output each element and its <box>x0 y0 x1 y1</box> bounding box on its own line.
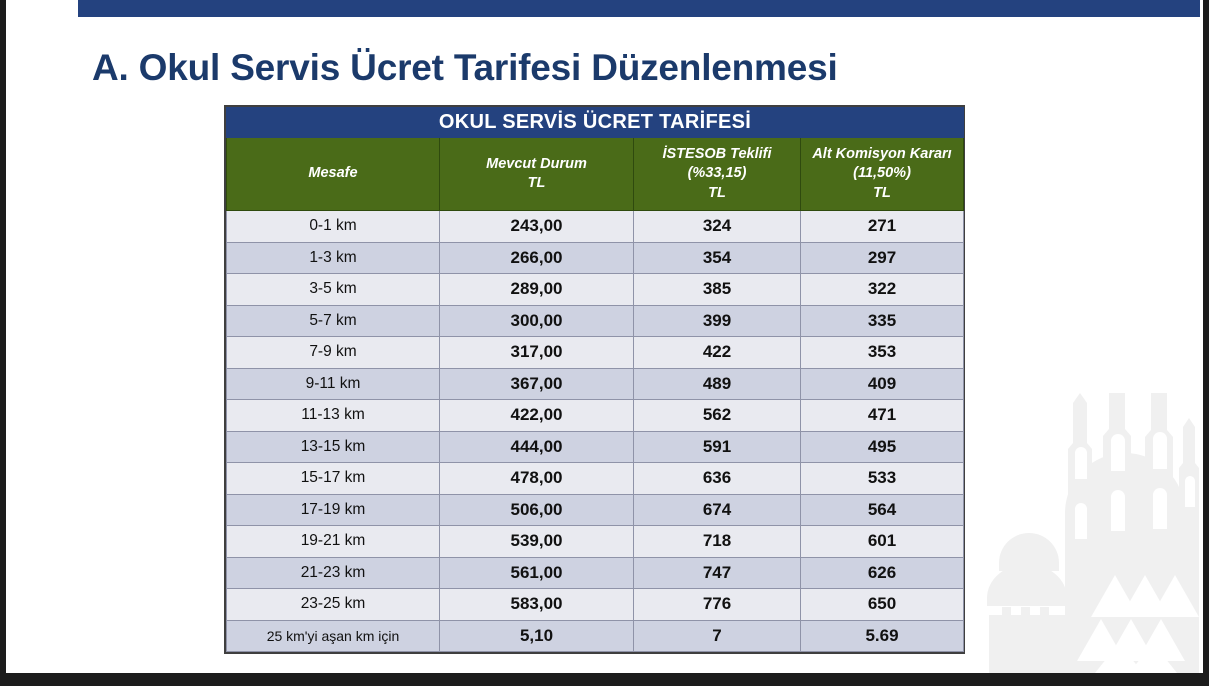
cell-istesob-teklifi: 399 <box>634 305 801 337</box>
cell-mesafe: 5-7 km <box>227 305 440 337</box>
column-header-line: Mevcut Durum <box>443 155 630 174</box>
table-row: 0-1 km243,00324271 <box>227 211 964 243</box>
cell-mevcut-durum: 300,00 <box>440 305 634 337</box>
cell-istesob-teklifi: 747 <box>634 557 801 589</box>
cell-mesafe: 25 km'yi aşan km için <box>227 620 440 652</box>
cell-istesob-teklifi: 422 <box>634 337 801 369</box>
cell-alt-komisyon-karari: 271 <box>801 211 964 243</box>
cell-alt-komisyon-karari: 650 <box>801 589 964 621</box>
column-header-alt-komisyon-karari: Alt Komisyon Kararı (11,50%) TL <box>801 138 964 211</box>
cell-mesafe: 3-5 km <box>227 274 440 306</box>
cell-alt-komisyon-karari: 409 <box>801 368 964 400</box>
table-row: 19-21 km539,00718601 <box>227 526 964 558</box>
cell-alt-komisyon-karari: 626 <box>801 557 964 589</box>
cell-mevcut-durum: 583,00 <box>440 589 634 621</box>
cell-mevcut-durum: 422,00 <box>440 400 634 432</box>
table-caption: OKUL SERVİS ÜCRET TARİFESİ <box>227 108 964 138</box>
table-header-row: Mesafe Mevcut Durum TL İSTESOB Teklifi (… <box>227 138 964 211</box>
table-row: 9-11 km367,00489409 <box>227 368 964 400</box>
cell-alt-komisyon-karari: 564 <box>801 494 964 526</box>
cell-mesafe: 17-19 km <box>227 494 440 526</box>
slide-root: A. Okul Servis Ücret Tarifesi Düzenlenme… <box>0 0 1209 686</box>
cell-mesafe: 21-23 km <box>227 557 440 589</box>
cell-mesafe: 15-17 km <box>227 463 440 495</box>
slide-page-surface: A. Okul Servis Ücret Tarifesi Düzenlenme… <box>6 0 1203 673</box>
cell-alt-komisyon-karari: 297 <box>801 242 964 274</box>
cell-mesafe: 1-3 km <box>227 242 440 274</box>
cell-istesob-teklifi: 324 <box>634 211 801 243</box>
cell-alt-komisyon-karari: 495 <box>801 431 964 463</box>
cell-mesafe: 13-15 km <box>227 431 440 463</box>
column-header-line: Alt Komisyon Kararı <box>804 145 960 164</box>
cell-alt-komisyon-karari: 471 <box>801 400 964 432</box>
right-letterbox-strip <box>1203 0 1209 686</box>
cell-istesob-teklifi: 7 <box>634 620 801 652</box>
cell-mevcut-durum: 561,00 <box>440 557 634 589</box>
cell-alt-komisyon-karari: 353 <box>801 337 964 369</box>
cell-istesob-teklifi: 674 <box>634 494 801 526</box>
top-blue-banner <box>78 0 1200 17</box>
cell-istesob-teklifi: 385 <box>634 274 801 306</box>
cell-mevcut-durum: 289,00 <box>440 274 634 306</box>
column-header-line: TL <box>804 184 960 203</box>
tariff-table-container: OKUL SERVİS ÜCRET TARİFESİ Mesafe Mevcut… <box>224 105 965 654</box>
cell-mesafe: 0-1 km <box>227 211 440 243</box>
table-row: 23-25 km583,00776650 <box>227 589 964 621</box>
cell-mevcut-durum: 506,00 <box>440 494 634 526</box>
table-row: 15-17 km478,00636533 <box>227 463 964 495</box>
cell-istesob-teklifi: 591 <box>634 431 801 463</box>
cell-alt-komisyon-karari: 322 <box>801 274 964 306</box>
column-header-line: TL <box>443 174 630 193</box>
cell-alt-komisyon-karari: 5.69 <box>801 620 964 652</box>
cell-alt-komisyon-karari: 601 <box>801 526 964 558</box>
column-header-line: (%33,15) <box>637 164 797 183</box>
cell-istesob-teklifi: 718 <box>634 526 801 558</box>
left-letterbox-strip <box>0 0 6 686</box>
table-row: 21-23 km561,00747626 <box>227 557 964 589</box>
table-row: 3-5 km289,00385322 <box>227 274 964 306</box>
table-row: 17-19 km506,00674564 <box>227 494 964 526</box>
cell-mevcut-durum: 317,00 <box>440 337 634 369</box>
cell-mesafe: 19-21 km <box>227 526 440 558</box>
cell-mesafe: 11-13 km <box>227 400 440 432</box>
cell-mevcut-durum: 478,00 <box>440 463 634 495</box>
table-row: 11-13 km422,00562471 <box>227 400 964 432</box>
column-header-line: İSTESOB Teklifi <box>637 145 797 164</box>
table-caption-row: OKUL SERVİS ÜCRET TARİFESİ <box>227 108 964 138</box>
cell-alt-komisyon-karari: 335 <box>801 305 964 337</box>
table-row: 13-15 km444,00591495 <box>227 431 964 463</box>
cell-mevcut-durum: 444,00 <box>440 431 634 463</box>
column-header-mevcut-durum: Mevcut Durum TL <box>440 138 634 211</box>
column-header-mesafe: Mesafe <box>227 138 440 211</box>
cell-mevcut-durum: 367,00 <box>440 368 634 400</box>
school-service-fee-tariff-table: OKUL SERVİS ÜCRET TARİFESİ Mesafe Mevcut… <box>226 107 964 652</box>
column-header-line: Mesafe <box>230 164 436 183</box>
cell-istesob-teklifi: 636 <box>634 463 801 495</box>
table-row: 1-3 km266,00354297 <box>227 242 964 274</box>
column-header-istesob-teklifi: İSTESOB Teklifi (%33,15) TL <box>634 138 801 211</box>
cell-mesafe: 9-11 km <box>227 368 440 400</box>
cell-mesafe: 23-25 km <box>227 589 440 621</box>
cell-istesob-teklifi: 776 <box>634 589 801 621</box>
column-header-line: TL <box>637 184 797 203</box>
cell-mesafe: 7-9 km <box>227 337 440 369</box>
cell-mevcut-durum: 266,00 <box>440 242 634 274</box>
bottom-letterbox-strip <box>0 673 1209 686</box>
cell-alt-komisyon-karari: 533 <box>801 463 964 495</box>
cell-istesob-teklifi: 354 <box>634 242 801 274</box>
cell-istesob-teklifi: 489 <box>634 368 801 400</box>
page-title: A. Okul Servis Ücret Tarifesi Düzenlenme… <box>92 47 838 89</box>
cell-mevcut-durum: 5,10 <box>440 620 634 652</box>
cell-istesob-teklifi: 562 <box>634 400 801 432</box>
table-row: 25 km'yi aşan km için5,1075.69 <box>227 620 964 652</box>
cell-mevcut-durum: 243,00 <box>440 211 634 243</box>
table-row: 7-9 km317,00422353 <box>227 337 964 369</box>
mosque-watermark-icon <box>969 393 1199 673</box>
column-header-line: (11,50%) <box>804 164 960 183</box>
table-row: 5-7 km300,00399335 <box>227 305 964 337</box>
cell-mevcut-durum: 539,00 <box>440 526 634 558</box>
